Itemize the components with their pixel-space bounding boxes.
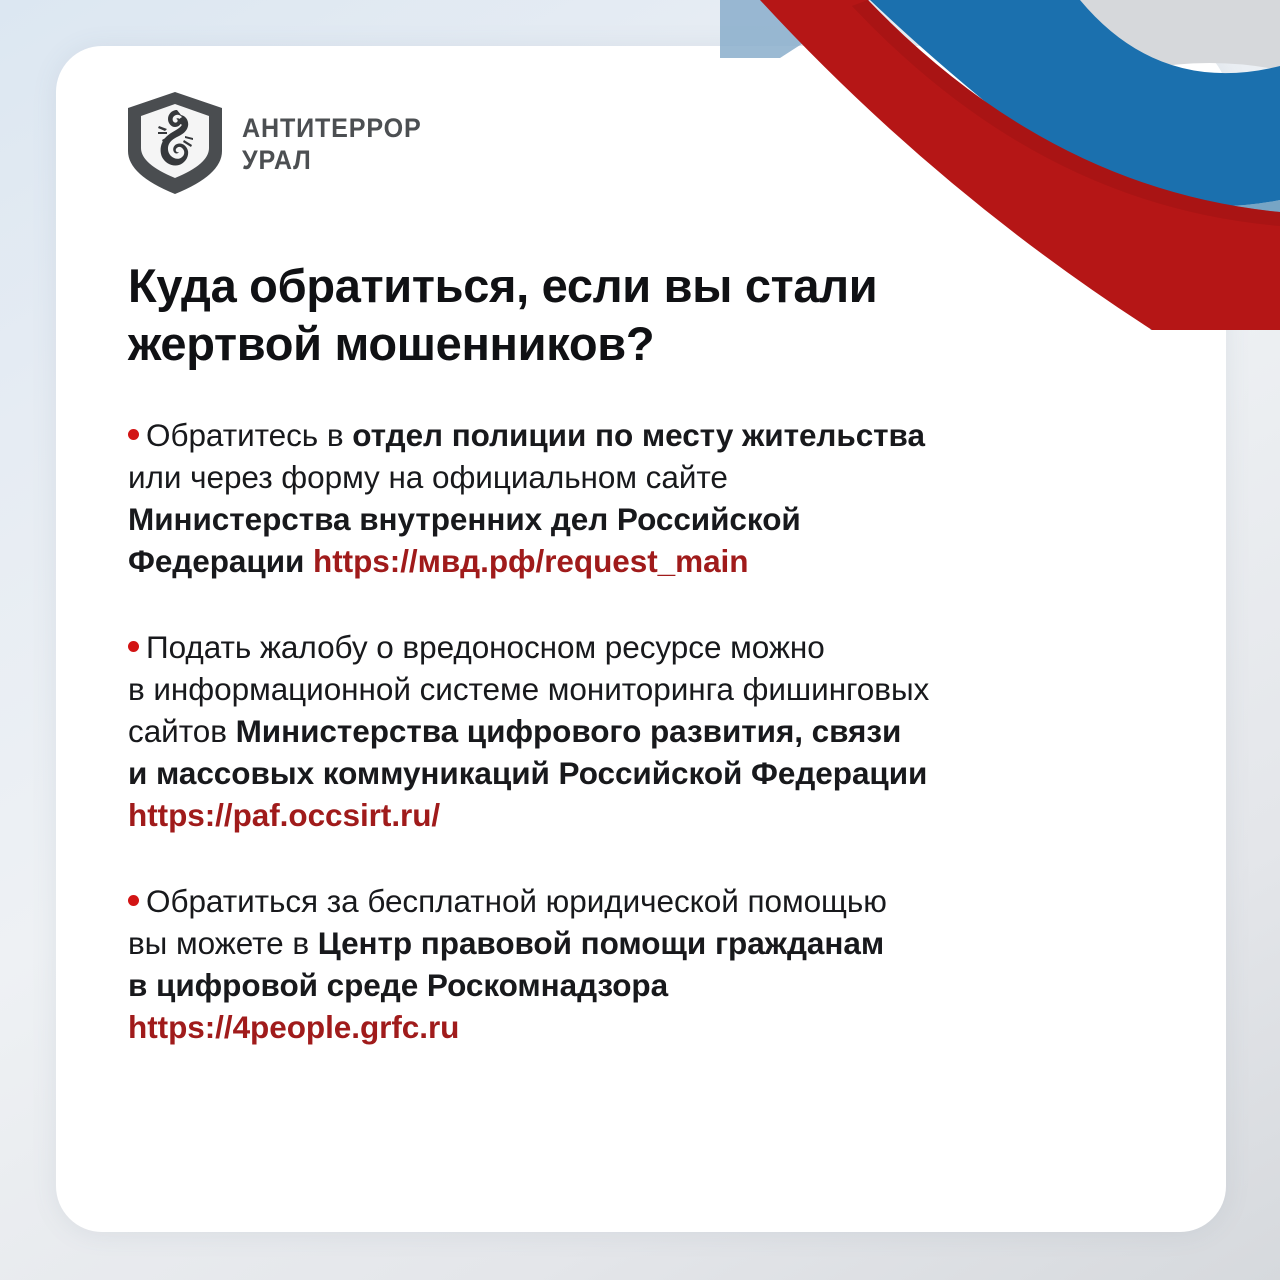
phishing-line-3-normal: сайтов xyxy=(128,713,236,749)
legal-line-3: в цифровой среде Роскомнадзора xyxy=(128,967,668,1003)
page-title: Куда обратиться, если вы стали жертвой м… xyxy=(128,257,1028,372)
list-item-phishing: Подать жалобу о вредоносном ресурсе можн… xyxy=(128,626,1158,836)
content-card: АНТИТЕРРОР УРАЛ Куда обратиться, если вы… xyxy=(56,46,1226,1232)
police-line-3: Министерства внутренних дел Российской xyxy=(128,501,801,537)
phishing-line-3-bold: Министерства цифрового развития, связи xyxy=(236,713,902,749)
brand-line-1: АНТИТЕРРОР xyxy=(242,114,422,142)
poster-canvas: АНТИТЕРРОР УРАЛ Куда обратиться, если вы… xyxy=(0,0,1280,1280)
list-item-legal-aid: Обратиться за бесплатной юридической пом… xyxy=(128,880,1158,1048)
link-4people[interactable]: https://4people.grfc.ru xyxy=(128,1009,459,1045)
brand-wordmark: АНТИТЕРРОР УРАЛ xyxy=(242,114,435,173)
link-paf[interactable]: https://paf.occsirt.ru/ xyxy=(128,797,440,833)
brand-line-2: УРАЛ xyxy=(242,146,422,174)
page-title-line-1: Куда обратиться, если вы стали xyxy=(128,259,877,312)
police-line-1-bold: отдел полиции по месту жительства xyxy=(352,417,925,453)
shield-lizard-icon xyxy=(126,91,224,195)
advice-list: Обратитесь в отдел полиции по месту жите… xyxy=(128,382,1158,1048)
police-line-4: Федерации xyxy=(128,543,304,579)
phishing-line-1: Подать жалобу о вредоносном ресурсе можн… xyxy=(146,629,825,665)
phishing-line-2: в информационной системе мониторинга фиш… xyxy=(128,671,929,707)
legal-line-2-normal: вы можете в xyxy=(128,925,318,961)
brand-logo: АНТИТЕРРОР УРАЛ xyxy=(126,91,435,195)
bullet-dot-icon xyxy=(128,641,139,652)
police-line-1-normal: Обратитесь в xyxy=(146,417,352,453)
bullet-dot-icon xyxy=(128,429,139,440)
police-line-2: или через форму на официальном сайте xyxy=(128,459,728,495)
legal-line-2-bold: Центр правовой помощи гражданам xyxy=(318,925,884,961)
legal-line-1: Обратиться за бесплатной юридической пом… xyxy=(146,883,887,919)
page-title-line-2: жертвой мошенников? xyxy=(128,317,654,370)
link-mvd[interactable]: https://мвд.рф/request_main xyxy=(313,543,748,579)
list-item-police: Обратитесь в отдел полиции по месту жите… xyxy=(128,414,1158,582)
bullet-dot-icon xyxy=(128,895,139,906)
phishing-line-4: и массовых коммуникаций Российской Федер… xyxy=(128,755,927,791)
